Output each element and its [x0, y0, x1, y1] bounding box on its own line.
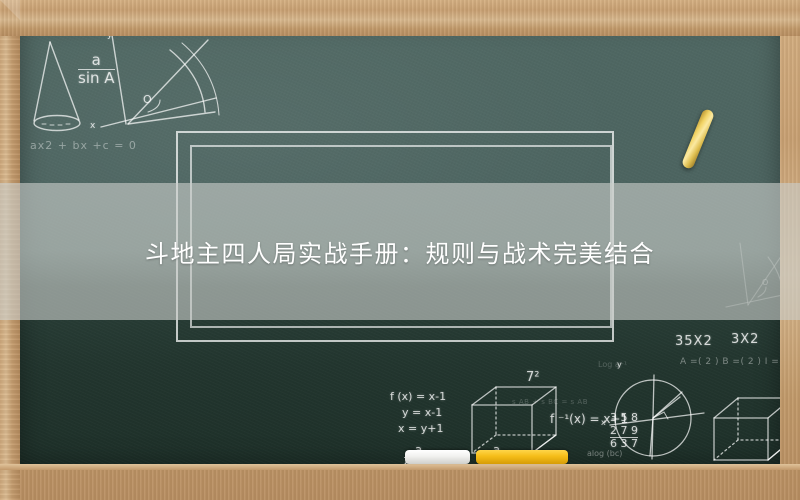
wood-frame-bottom-ledge	[0, 0, 800, 36]
alog-label-text: alog (bc)	[587, 449, 622, 458]
function-line-2: y = x-1	[390, 405, 446, 421]
yellow-chalk-stick	[476, 450, 568, 464]
white-chalk-stick	[405, 450, 470, 464]
function-lines-block: f (x) = x-1 y = x-1 x = y+1	[390, 389, 446, 437]
cube-wireframe-right-icon	[706, 388, 780, 464]
faint-segment-formula-text: s AB + s BC = s AB	[512, 398, 588, 406]
ledge-lip	[0, 464, 800, 470]
addition-stack-block: 3 5 8 2 7 9 6 3 7	[610, 412, 638, 451]
fraction-a-over-sin-a-topleft: a sin A	[78, 53, 115, 87]
title-band: 斗地主四人局实战手册：规则与战术完美结合	[0, 183, 800, 320]
banner-stage: a sin A y x O ax2 + bx +c = 0 f (x) = x-…	[0, 0, 800, 500]
angle-label-o-topleft: O	[143, 93, 152, 106]
addend-row-1: 3 5 8	[610, 412, 638, 425]
function-line-1: f (x) = x-1	[390, 389, 446, 405]
seven-squared-text: 7²	[526, 370, 539, 385]
frame-bevel-highlight	[0, 0, 20, 20]
multiplier-3x2-text: 3X2	[731, 332, 759, 347]
function-line-3: x = y+1	[390, 421, 446, 437]
gold-chalk-stick	[681, 108, 715, 170]
circle-axis-label-y: y	[617, 360, 622, 369]
multiplier-35x2-text: 35X2	[675, 334, 713, 349]
quadratic-equation-text: ax2 + bx +c = 0	[30, 139, 137, 152]
circle-axis-label-x: x	[601, 418, 606, 427]
axis-label-x-topleft: x	[90, 121, 95, 131]
page-title: 斗地主四人局实战手册：规则与战术完美结合	[145, 234, 655, 269]
